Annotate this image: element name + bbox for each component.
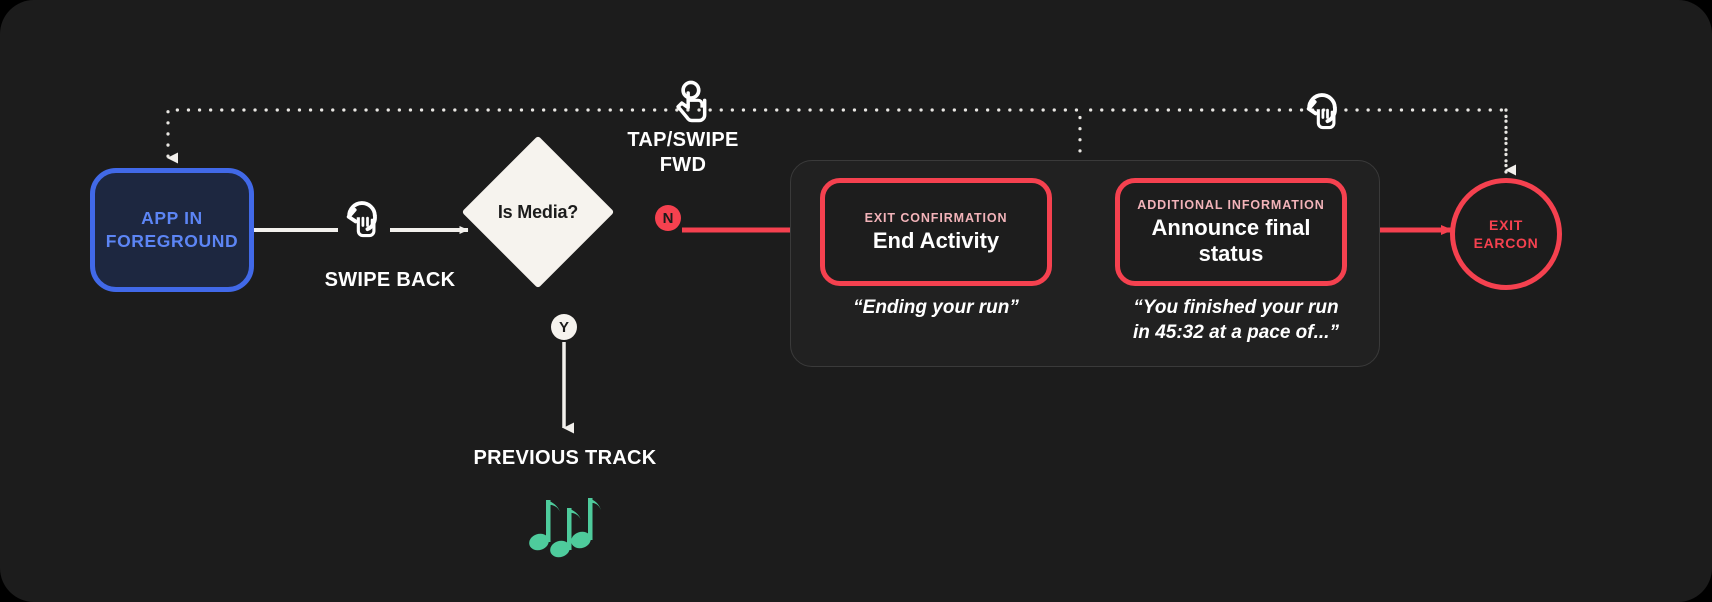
card-caption-exit-confirmation: “Ending your run”: [800, 296, 1072, 321]
app-in-foreground-label: APP IN FOREGROUND: [106, 207, 238, 253]
exit-earcon-label: EXIT EARCON: [1474, 216, 1539, 252]
card-title: End Activity: [873, 228, 999, 254]
edge-label-previous-track: PREVIOUS TRACK: [430, 446, 700, 471]
music-notes-icon: [527, 492, 599, 558]
card-kicker: EXIT CONFIRMATION: [865, 211, 1008, 225]
card-title: Announce final status: [1152, 215, 1311, 267]
branch-badge-yes: Y: [551, 314, 577, 340]
card-exit-confirmation[interactable]: EXIT CONFIRMATION End Activity: [820, 178, 1052, 286]
swipe-gesture-icon: [1300, 90, 1344, 134]
card-kicker: ADDITIONAL INFORMATION: [1137, 198, 1324, 212]
diagram-canvas: APP IN FOREGROUND SWIPE BACK Is Media? N…: [0, 0, 1712, 602]
card-additional-information[interactable]: ADDITIONAL INFORMATION Announce final st…: [1115, 178, 1347, 286]
node-exit-earcon[interactable]: EXIT EARCON: [1450, 178, 1562, 290]
branch-badge-no: N: [655, 205, 681, 231]
tap-gesture-icon: [668, 80, 712, 128]
card-caption-additional-information: “You finished your run in 45:32 at a pac…: [1100, 296, 1372, 345]
node-app-in-foreground[interactable]: APP IN FOREGROUND: [90, 168, 254, 292]
edge-label-tap-swipe-fwd: TAP/SWIPE FWD: [588, 128, 778, 178]
swipe-gesture-icon: [340, 198, 384, 242]
